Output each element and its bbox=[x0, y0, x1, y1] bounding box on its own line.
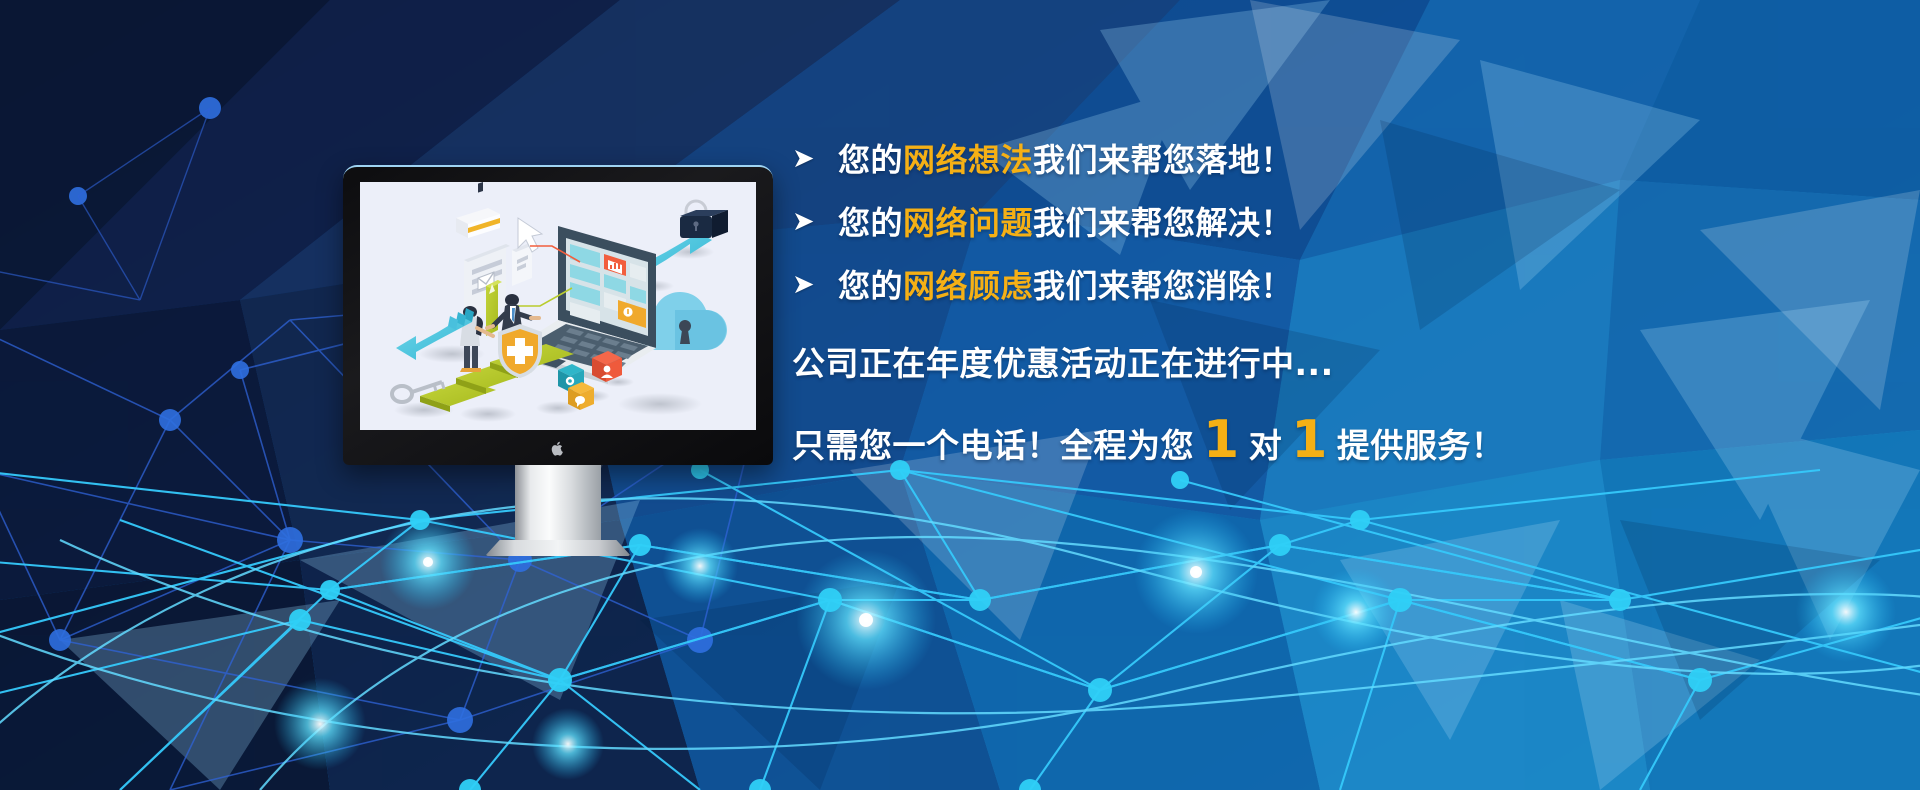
banner-copy: ➤ 您的网络想法我们来帮您落地！ ➤ 您的网络问题我们来帮您解决！ ➤ 您的网络… bbox=[792, 128, 1812, 467]
bullet-prefix-2: 您的 bbox=[838, 204, 903, 242]
cta-number-second: 1 bbox=[1282, 417, 1337, 464]
bullet-prefix-3: 您的 bbox=[838, 267, 903, 305]
monitor-illustration bbox=[343, 165, 773, 465]
bullet-suffix-3: 我们来帮您消除！ bbox=[1033, 267, 1293, 305]
bullet-highlight-3: 网络顾虑 bbox=[903, 267, 1033, 305]
bullet-highlight-2: 网络问题 bbox=[903, 204, 1033, 242]
promo-text: 公司正在年度优惠活动正在进行中... bbox=[792, 337, 1812, 385]
arrow-right-bullet-icon: ➤ bbox=[792, 145, 838, 172]
bullet-highlight-1: 网络想法 bbox=[903, 141, 1033, 179]
apple-logo bbox=[552, 441, 565, 456]
cta-text: 只需您一个电话！全程为您 1 对 1 提供服务！ bbox=[792, 417, 1812, 467]
cta-tail: 提供服务！ bbox=[1337, 419, 1505, 467]
bullet-text-3: 您的网络顾虑我们来帮您消除！ bbox=[838, 261, 1293, 307]
monitor-stand-neck bbox=[515, 465, 601, 543]
bullet-line-2: ➤ 您的网络问题我们来帮您解决！ bbox=[792, 191, 1812, 251]
cta-mid: 对 bbox=[1249, 419, 1283, 467]
bullet-suffix-1: 我们来帮您落地！ bbox=[1033, 141, 1293, 179]
arrow-right-bullet-icon: ➤ bbox=[792, 271, 838, 298]
bullet-text-1: 您的网络想法我们来帮您落地！ bbox=[838, 135, 1293, 181]
monitor-stand-base bbox=[485, 540, 631, 556]
cta-number-first: 1 bbox=[1194, 417, 1249, 464]
bullet-prefix-1: 您的 bbox=[838, 141, 903, 179]
isometric-network-security-illustration bbox=[360, 182, 756, 430]
promo-banner: ➤ 您的网络想法我们来帮您落地！ ➤ 您的网络问题我们来帮您解决！ ➤ 您的网络… bbox=[0, 0, 1920, 790]
arrow-right-bullet-icon: ➤ bbox=[792, 208, 838, 235]
cta-lead: 只需您一个电话！全程为您 bbox=[792, 419, 1194, 467]
bullet-line-3: ➤ 您的网络顾虑我们来帮您消除！ bbox=[792, 254, 1812, 314]
bullet-line-1: ➤ 您的网络想法我们来帮您落地！ bbox=[792, 128, 1812, 188]
monitor-screen bbox=[360, 182, 756, 430]
bullet-text-2: 您的网络问题我们来帮您解决！ bbox=[838, 198, 1293, 244]
bullet-suffix-2: 我们来帮您解决！ bbox=[1033, 204, 1293, 242]
